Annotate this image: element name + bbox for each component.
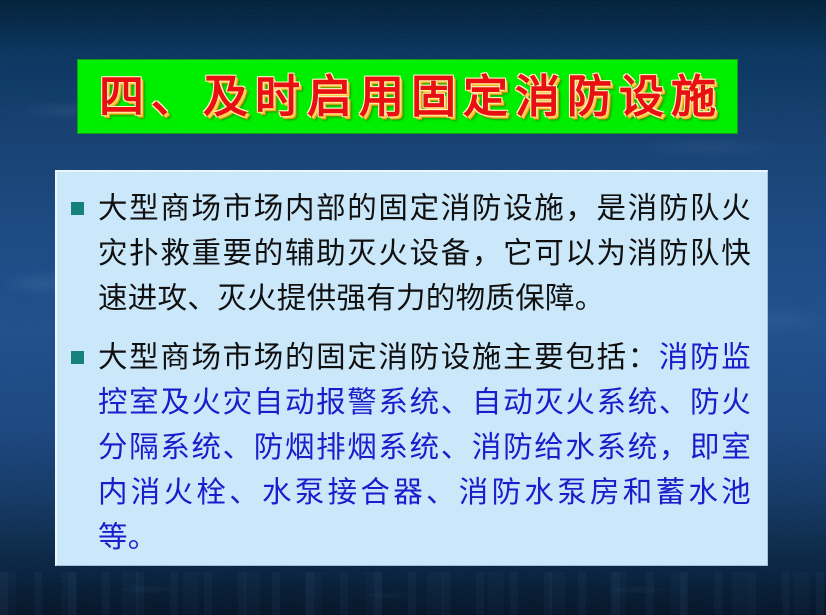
square-bullet-icon: [71, 351, 84, 364]
slide-title-banner: 四、及时启用固定消防设施: [78, 60, 737, 133]
bullet-item-1: 大型商场市场内部的固定消防设施，是消防队火灾扑救重要的辅助灭火设备，它可以为消防…: [71, 186, 751, 321]
presentation-slide: 四、及时启用固定消防设施 大型商场市场内部的固定消防设施，是消防队火灾扑救重要的…: [0, 0, 826, 615]
bullet-item-2: 大型商场市场的固定消防设施主要包括：消防监控室及火灾自动报警系统、自动灭火系统、…: [71, 335, 751, 560]
square-bullet-icon: [71, 202, 84, 215]
bullet-item-1-text: 大型商场市场内部的固定消防设施，是消防队火灾扑救重要的辅助灭火设备，它可以为消防…: [98, 186, 751, 321]
slide-content-panel: 大型商场市场内部的固定消防设施，是消防队火灾扑救重要的辅助灭火设备，它可以为消防…: [55, 170, 768, 566]
bullet-1-run-1: 大型商场市场内部的固定消防设施，是消防队火灾扑救重要的辅助灭火设备，它可以为消防…: [98, 191, 751, 315]
background-bottom-texture: [0, 572, 826, 615]
bullet-item-2-text: 大型商场市场的固定消防设施主要包括：消防监控室及火灾自动报警系统、自动灭火系统、…: [98, 335, 751, 560]
bullet-2-run-1: 大型商场市场的固定消防设施主要包括：: [98, 340, 659, 374]
slide-title: 四、及时启用固定消防设施: [92, 74, 723, 119]
